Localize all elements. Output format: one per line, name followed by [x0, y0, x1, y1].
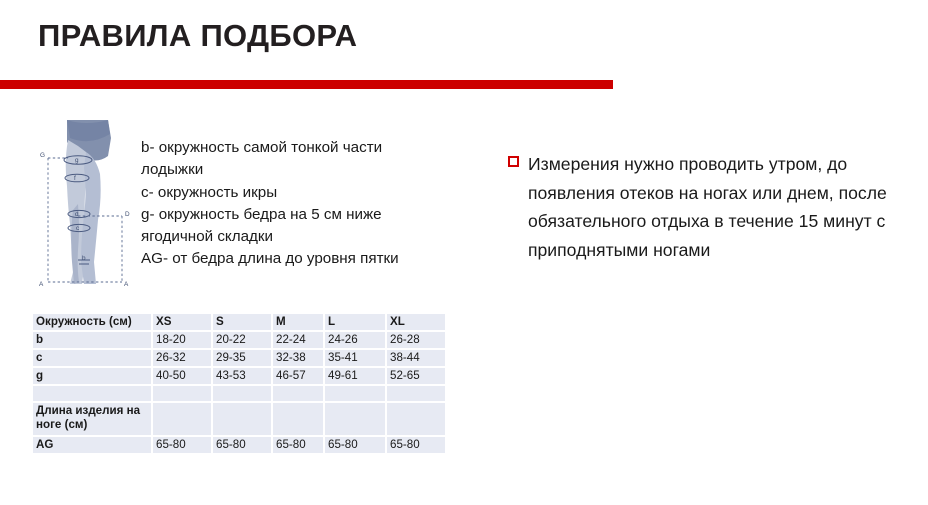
cell-xs [152, 385, 212, 402]
cell-s: 20-22 [212, 331, 272, 349]
cell-s [212, 402, 272, 436]
cell-s: 29-35 [212, 349, 272, 367]
row-label: Длина изделия на ноге (см) [33, 402, 152, 436]
column-header-xl: XL [386, 314, 445, 331]
label-d-icon: d [75, 211, 79, 218]
table-row: b 18-20 20-22 22-24 24-26 26-28 [33, 331, 445, 349]
cell-m: 22-24 [272, 331, 324, 349]
table-row: AG 65-80 65-80 65-80 65-80 65-80 [33, 436, 445, 453]
cell-xl: 65-80 [386, 436, 445, 453]
cell-xl: 52-65 [386, 367, 445, 385]
cell-s [212, 385, 272, 402]
cell-xs: 40-50 [152, 367, 212, 385]
cell-s: 43-53 [212, 367, 272, 385]
label-g-icon: g [75, 157, 79, 164]
table-row [33, 385, 445, 402]
leg-silhouette-shape [66, 120, 111, 284]
row-label: b [33, 331, 152, 349]
legend-line-b: b- окружность самой тонкой части лодыжки [141, 137, 437, 182]
table-row: c 26-32 29-35 32-38 35-41 38-44 [33, 349, 445, 367]
cell-l: 49-61 [324, 367, 386, 385]
measurement-note: Измерения нужно проводить утром, до появ… [508, 150, 900, 264]
cell-xl [386, 402, 445, 436]
cell-xl: 26-28 [386, 331, 445, 349]
cell-l: 24-26 [324, 331, 386, 349]
cell-xs: 65-80 [152, 436, 212, 453]
legend-line-g: g- окружность бедра на 5 см ниже ягодичн… [141, 204, 437, 249]
label-A-right-icon: A [124, 281, 129, 288]
row-label: g [33, 367, 152, 385]
cell-m: 65-80 [272, 436, 324, 453]
row-label: c [33, 349, 152, 367]
cell-xl [386, 385, 445, 402]
cell-l [324, 385, 386, 402]
row-label: AG [33, 436, 152, 453]
table-row: Длина изделия на ноге (см) [33, 402, 445, 436]
leg-measurement-diagram: G g f d D c b A A [34, 112, 138, 292]
cell-l: 65-80 [324, 436, 386, 453]
column-header-s: S [212, 314, 272, 331]
measurement-legend: b- окружность самой тонкой части лодыжки… [141, 137, 437, 271]
cell-s: 65-80 [212, 436, 272, 453]
cell-xs [152, 402, 212, 436]
label-f-icon: f [74, 175, 76, 182]
cell-l [324, 402, 386, 436]
label-b-icon: b [82, 255, 86, 262]
label-A-left-icon: A [39, 281, 44, 288]
size-chart-table: Окружность (см) XS S M L XL b 18-20 20-2… [33, 314, 445, 453]
measurement-note-text: Измерения нужно проводить утром, до появ… [528, 150, 900, 264]
legend-line-ag: AG- от бедра длина до уровня пятки [141, 248, 437, 270]
label-D-icon: D [125, 211, 130, 218]
column-header-m: M [272, 314, 324, 331]
table-header-row: Окружность (см) XS S M L XL [33, 314, 445, 331]
page-title: ПРАВИЛА ПОДБОРА [38, 18, 357, 54]
cell-xl: 38-44 [386, 349, 445, 367]
cell-m [272, 402, 324, 436]
title-underline-rule [0, 80, 613, 89]
cell-l: 35-41 [324, 349, 386, 367]
table-row: g 40-50 43-53 46-57 49-61 52-65 [33, 367, 445, 385]
cell-m: 46-57 [272, 367, 324, 385]
column-header-l: L [324, 314, 386, 331]
row-label [33, 385, 152, 402]
column-header-xs: XS [152, 314, 212, 331]
label-G-icon: G [40, 152, 45, 159]
legend-line-c: c- окружность икры [141, 182, 437, 204]
cell-xs: 26-32 [152, 349, 212, 367]
red-square-bullet-icon [508, 156, 519, 167]
cell-m: 32-38 [272, 349, 324, 367]
column-header-measure: Окружность (см) [33, 314, 152, 331]
cell-xs: 18-20 [152, 331, 212, 349]
cell-m [272, 385, 324, 402]
